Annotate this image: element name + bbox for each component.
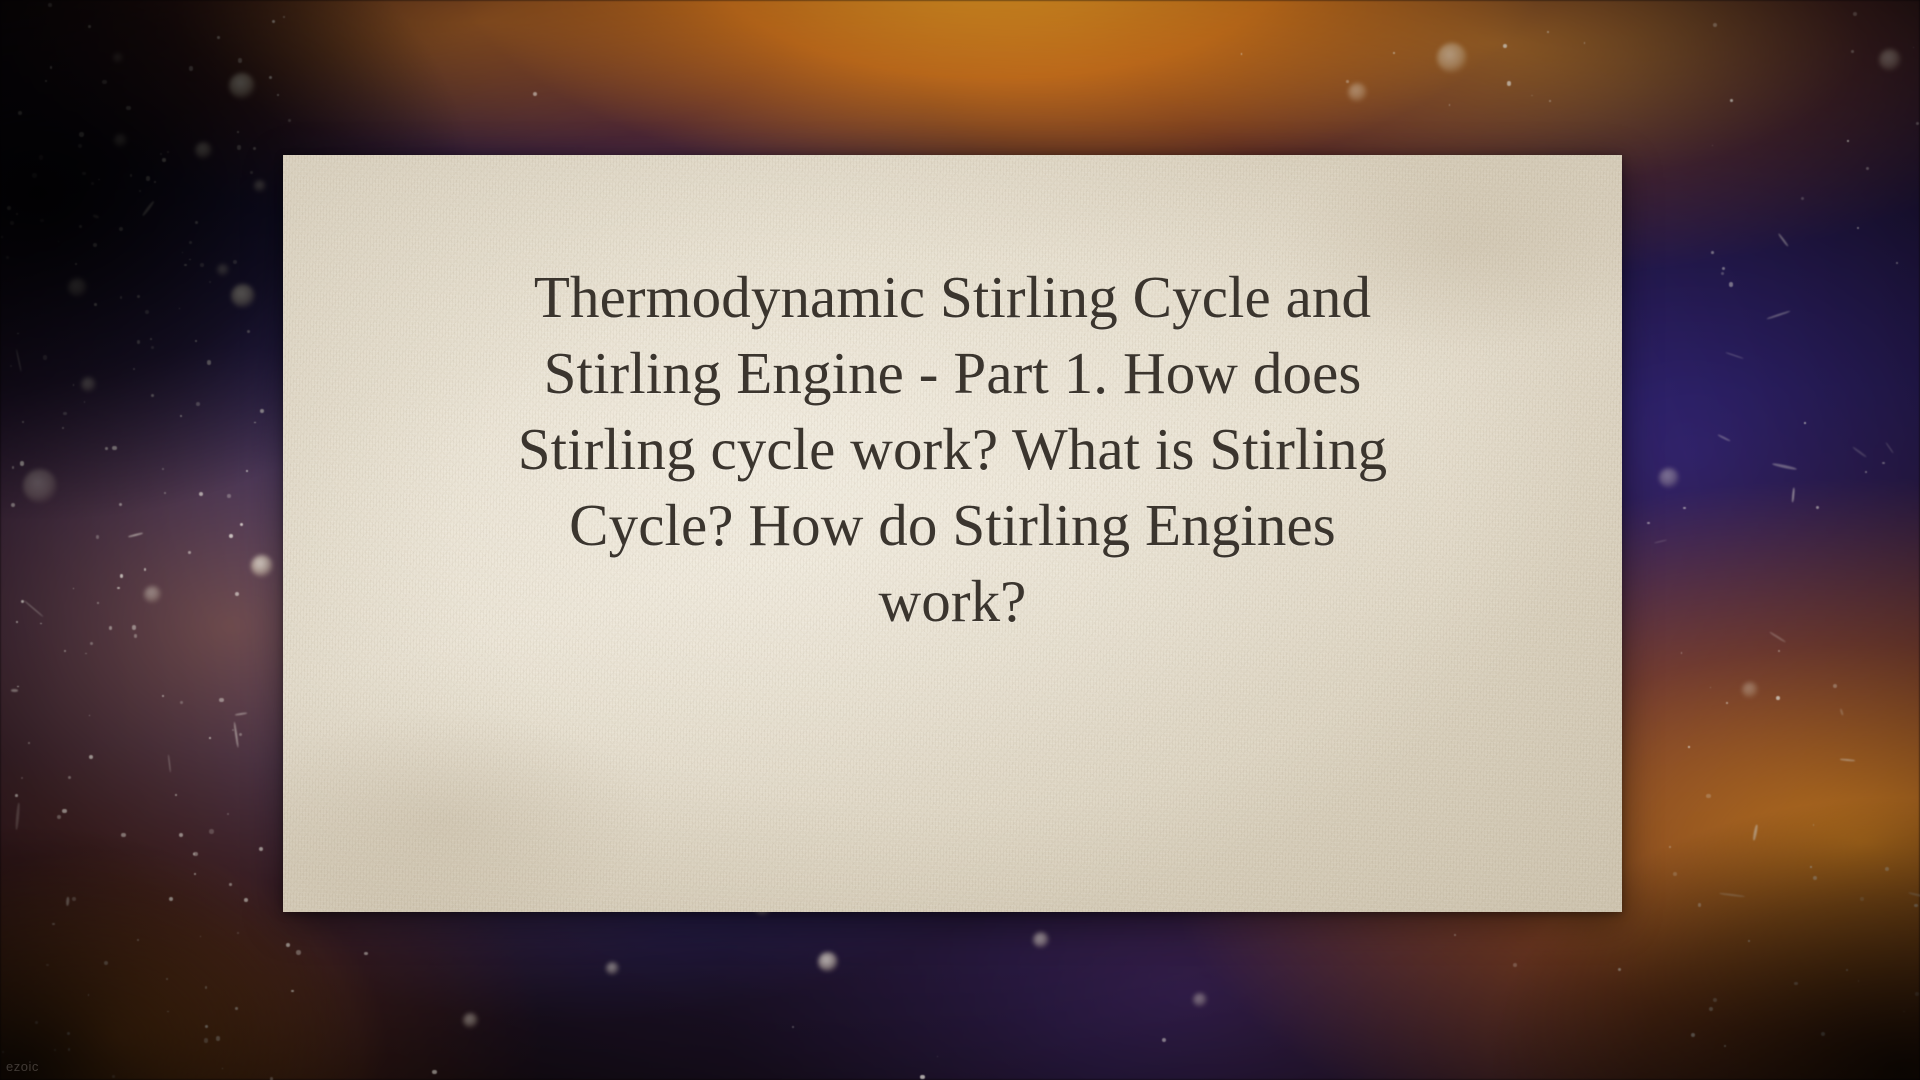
page-title-line: Thermodynamic Stirling Cycle and bbox=[335, 259, 1570, 335]
title-card-screen: Thermodynamic Stirling Cycle andStirling… bbox=[0, 0, 1920, 1080]
page-title: Thermodynamic Stirling Cycle andStirling… bbox=[283, 155, 1622, 639]
paper-card: Thermodynamic Stirling Cycle andStirling… bbox=[283, 155, 1622, 912]
page-title-line: work? bbox=[335, 563, 1570, 639]
page-title-line: Stirling cycle work? What is Stirling bbox=[335, 411, 1570, 487]
ezoic-watermark: ezoic bbox=[6, 1059, 39, 1074]
page-title-line: Cycle? How do Stirling Engines bbox=[335, 487, 1570, 563]
page-title-line: Stirling Engine - Part 1. How does bbox=[335, 335, 1570, 411]
